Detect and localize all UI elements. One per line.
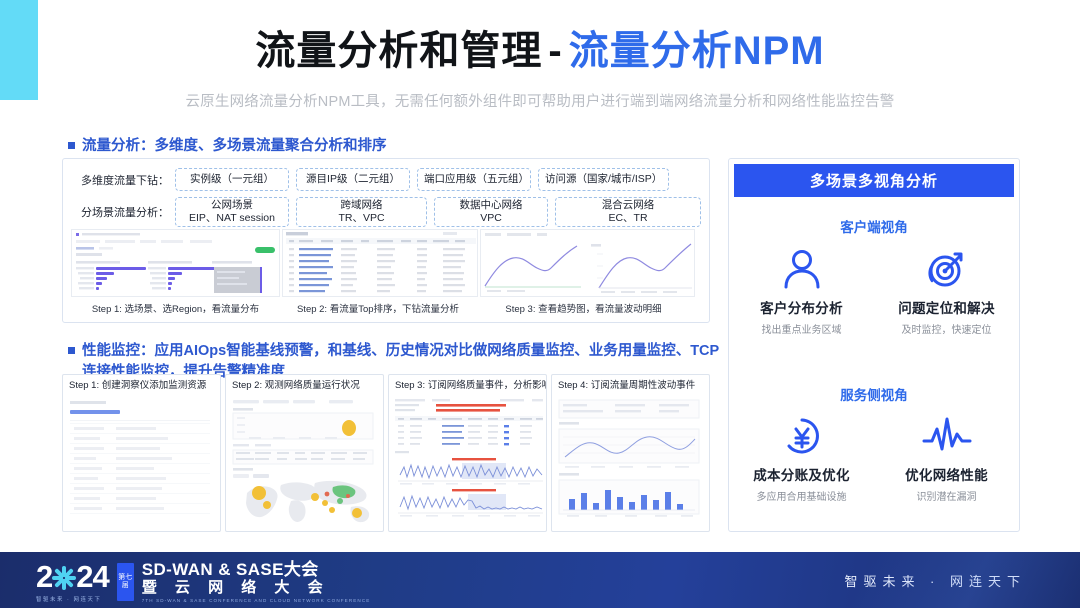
tag-public-network-scenario[interactable]: 公网场景 EIP、NAT session (175, 197, 289, 227)
conference-logo: 2 24 智驱未来 · 网连天下 第七届 SD-WAN & SASE大会 暨 云… (36, 560, 370, 603)
user-icon (729, 245, 874, 293)
page-title: 流量分析和管理-流量分析NPM (0, 28, 1080, 74)
step-card-1[interactable]: Step 1: 创建洞察仪添加监测资源 (62, 374, 221, 532)
feature-cost-allocation[interactable]: 成本分账及优化 多应用合用基础设施 (729, 412, 874, 503)
feature-issue-locating[interactable]: 问题定位和解决 及时监控，快速定位 (874, 245, 1019, 336)
title-highlight: 流量分析NPM (569, 29, 825, 73)
thumb-table-graphic (283, 230, 478, 296)
conference-name-cn: 暨 云 网 络 大 会 (142, 579, 371, 597)
step-card-4-screenshot (555, 397, 706, 528)
logo-year: 2 24 (36, 560, 109, 594)
bullet-square-icon-2 (68, 347, 75, 354)
feature-sub-cost-allocation: 多应用合用基础设施 (729, 488, 874, 503)
card3-event-graphic (392, 397, 543, 525)
step-card-2[interactable]: Step 2: 观测网络质量运行状况 (225, 374, 384, 532)
multi-perspective-panel: 多场景多视角分析 客户端视角 客户分布分析 找出重点业务区域 (728, 158, 1020, 532)
card1-graphic (66, 397, 214, 525)
feature-sub-customer-distribution: 找出重点业务区域 (729, 321, 874, 336)
logo-tagline: 智驱未来 · 网连天下 (36, 595, 109, 603)
footer-banner: 2 24 智驱未来 · 网连天下 第七届 SD-WAN & SASE大会 暨 云… (0, 552, 1080, 608)
title-main: 流量分析和管理 (255, 29, 542, 73)
performance-step-cards: Step 1: 创建洞察仪添加监测资源 (62, 374, 710, 532)
tag-row-scenario: 分场景流量分析： 公网场景 EIP、NAT session 跨域网络 TR、VP… (71, 197, 708, 227)
step-card-3-screenshot (392, 397, 543, 528)
feature-label-issue-locating: 问题定位和解决 (874, 297, 1019, 317)
slide-root: 流量分析和管理-流量分析NPM 云原生网络流量分析NPM工具，无需任何额外组件即… (0, 0, 1080, 608)
step-card-4[interactable]: Step 4: 订阅流量周期性波动事件 (551, 374, 710, 532)
feature-label-cost-allocation: 成本分账及优化 (729, 464, 874, 484)
bullet-square-icon (68, 142, 75, 149)
logo-year-suffix: 24 (76, 559, 108, 594)
step-card-2-screenshot (229, 397, 380, 528)
conference-name-sub: 7TH SD-WAN & SASE CONFERENCE AND CLOUD N… (142, 598, 371, 603)
flow-analysis-panel: 多维度流量下钻： 实例级（一元组） 源目IP级（二元组） 端口应用级（五元组） … (62, 158, 710, 323)
tag-row-label-scenario: 分场景流量分析： (71, 204, 175, 220)
edition-badge: 第七届 (117, 563, 134, 601)
bullet-flow-analysis: 流量分析：多维度、多场景流量聚合分析和排序 (68, 136, 387, 157)
feature-customer-distribution[interactable]: 客户分布分析 找出重点业务区域 (729, 245, 874, 336)
step-caption-2: Step 2: 看流量Top排序，下钻流量分析 (280, 301, 476, 319)
step-card-4-title: Step 4: 订阅流量周期性波动事件 (552, 375, 709, 394)
step-card-3-title: Step 3: 订阅网络质量事件，分析影响面 (389, 375, 546, 394)
step-card-3[interactable]: Step 3: 订阅网络质量事件，分析影响面 (388, 374, 547, 532)
tag-instance-level[interactable]: 实例级（一元组） (175, 168, 289, 191)
feature-label-network-optimization: 优化网络性能 (874, 464, 1019, 484)
step-caption-3: Step 3: 查看趋势图，看流量波动明细 (476, 301, 691, 319)
flow-screenshot-strip (71, 229, 701, 297)
title-dash: - (542, 29, 568, 73)
conference-name-en: SD-WAN & SASE大会 (142, 560, 371, 579)
card2-world-map-graphic (229, 397, 377, 525)
tag-srcdst-ip-level[interactable]: 源目IP级（二元组） (296, 168, 410, 191)
thumb-bar-chart-graphic (72, 230, 280, 296)
thumb-line-chart-graphic (481, 230, 695, 296)
service-perspective-items: 成本分账及优化 多应用合用基础设施 优化网络性能 识别潜在漏洞 (729, 412, 1019, 503)
group-title-service: 服务侧视角 (729, 384, 1019, 404)
screenshot-thumb-traffic-distribution[interactable] (71, 229, 280, 297)
bullet-perf-text-line1: 性能监控：应用AIOps智能基线预警，和基线、历史情况对比做网络质量监控、业务用… (82, 343, 719, 359)
feature-network-optimization[interactable]: 优化网络性能 识别潜在漏洞 (874, 412, 1019, 503)
card4-graphic (555, 397, 703, 525)
screenshot-thumb-trend-charts[interactable] (480, 229, 695, 297)
tag-row-label-drilldown: 多维度流量下钻： (71, 172, 175, 188)
logo-year-prefix: 2 (36, 559, 52, 594)
page-subtitle: 云原生网络流量分析NPM工具，无需任何额外组件即可帮助用户进行端到端网络流量分析… (0, 90, 1080, 111)
step-card-1-screenshot (66, 397, 217, 528)
conference-name-block: SD-WAN & SASE大会 暨 云 网 络 大 会 7TH SD-WAN &… (142, 560, 371, 603)
right-panel-header: 多场景多视角分析 (734, 164, 1014, 197)
flow-step-captions: Step 1: 选场景、选Region，看流量分布 Step 2: 看流量Top… (71, 301, 701, 319)
feature-label-customer-distribution: 客户分布分析 (729, 297, 874, 317)
flower-icon (51, 565, 77, 591)
group-title-client: 客户端视角 (729, 216, 1019, 236)
step-caption-1: Step 1: 选场景、选Region，看流量分布 (71, 301, 280, 319)
feature-sub-network-optimization: 识别潜在漏洞 (874, 488, 1019, 503)
tag-row-drilldown: 多维度流量下钻： 实例级（一元组） 源目IP级（二元组） 端口应用级（五元组） … (71, 168, 708, 191)
step-card-2-title: Step 2: 观测网络质量运行状况 (226, 375, 383, 394)
bullet-flow-text: 流量分析：多维度、多场景流量聚合分析和排序 (82, 138, 387, 154)
dimension-tag-table: 多维度流量下钻： 实例级（一元组） 源目IP级（二元组） 端口应用级（五元组） … (71, 168, 708, 233)
feature-sub-issue-locating: 及时监控，快速定位 (874, 321, 1019, 336)
logo-year-block: 2 24 智驱未来 · 网连天下 (36, 560, 109, 603)
tag-cross-domain-network[interactable]: 跨域网络 TR、VPC (296, 197, 427, 227)
yen-circle-icon (729, 412, 874, 460)
tag-hybrid-cloud-network[interactable]: 混合云网络 EC、TR (555, 197, 701, 227)
client-perspective-items: 客户分布分析 找出重点业务区域 问题定位和解决 及时监控，快速定位 (729, 245, 1019, 336)
target-icon (874, 245, 1019, 293)
tag-port-app-level[interactable]: 端口应用级（五元组） (417, 168, 531, 191)
step-card-1-title: Step 1: 创建洞察仪添加监测资源 (63, 375, 220, 394)
tag-access-source[interactable]: 访问源（国家/城市/ISP） (538, 168, 669, 191)
tag-datacenter-network[interactable]: 数据中心网络 VPC (434, 197, 548, 227)
footer-slogan: 智驱未来 · 网连天下 (844, 571, 1026, 590)
pulse-icon (874, 412, 1019, 460)
screenshot-thumb-top-ranking-table[interactable] (282, 229, 478, 297)
